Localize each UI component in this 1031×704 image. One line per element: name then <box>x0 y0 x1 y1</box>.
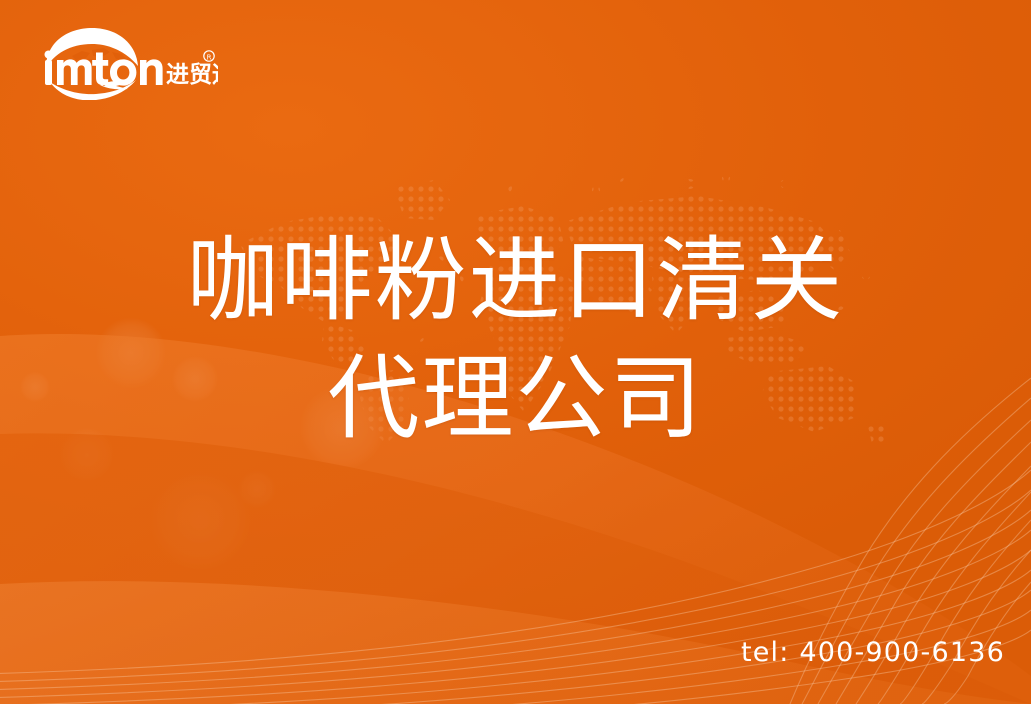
logo-chinese-name: 进贸通 <box>166 62 218 88</box>
page-title: 咖啡粉进口清关 代理公司 <box>0 222 1031 458</box>
headline-line-2: 代理公司 <box>0 340 1031 458</box>
headline-line-1: 咖啡粉进口清关 <box>0 222 1031 340</box>
registered-trademark-icon: R <box>204 51 214 62</box>
promo-banner: 进贸通 R 咖啡粉进口清关 代理公司 tel: 400-900-6136 <box>0 0 1031 704</box>
contact-telephone[interactable]: tel: 400-900-6136 <box>741 637 1005 668</box>
svg-text:R: R <box>207 53 212 61</box>
imton-logo[interactable]: 进贸通 R <box>38 26 218 100</box>
